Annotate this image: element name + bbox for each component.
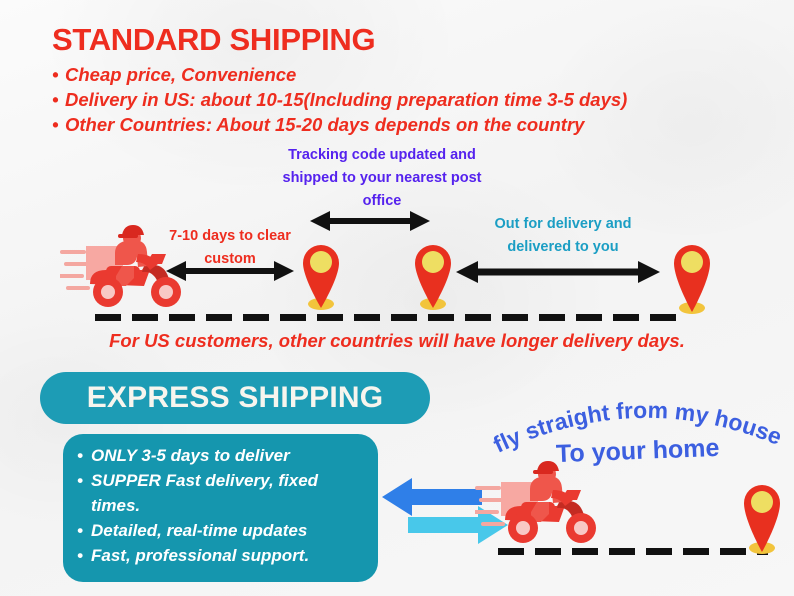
list-item: •Cheap price, Convenience xyxy=(52,62,772,87)
list-item: •Detailed, real-time updates xyxy=(77,518,368,543)
list-item-label: ONLY 3-5 days to deliver xyxy=(91,443,290,468)
list-item: •Other Countries: About 15-20 days depen… xyxy=(52,112,772,137)
list-item: •SUPPER Fast delivery, fixed times. xyxy=(77,468,368,518)
tracking-code-note-line-2: shipped to your nearest post xyxy=(247,167,517,190)
tracking-code-note: Tracking code updated and shipped to you… xyxy=(247,144,517,213)
map-pin-icon xyxy=(740,478,784,556)
out-for-delivery-note-line-2: delivered to you xyxy=(478,236,648,259)
out-for-delivery-note: Out for delivery and delivered to you xyxy=(478,213,648,259)
double-arrow-clear-custom xyxy=(166,258,294,284)
map-pin-icon xyxy=(299,238,343,312)
infographic-canvas: STANDARD SHIPPING •Cheap price, Convenie… xyxy=(0,0,794,596)
double-arrow-tracking-segment xyxy=(310,208,430,234)
list-item: •Fast, professional support. xyxy=(77,543,368,568)
out-for-delivery-note-line-1: Out for delivery and xyxy=(478,213,648,236)
express-shipping-banner: EXPRESS SHIPPING xyxy=(40,372,430,424)
delivery-scooter-icon xyxy=(475,458,615,550)
list-item-label: Other Countries: About 15-20 days depend… xyxy=(65,114,584,135)
standard-shipping-title: STANDARD SHIPPING xyxy=(52,22,375,58)
dashed-road-line-top xyxy=(95,314,683,321)
tracking-code-note-line-1: Tracking code updated and xyxy=(247,144,517,167)
bullet-marker-icon: • xyxy=(52,87,65,112)
double-arrow-out-for-delivery xyxy=(456,258,660,286)
bullet-marker-icon: • xyxy=(77,443,91,468)
dashed-road-line-bottom xyxy=(498,548,768,555)
express-shipping-title: EXPRESS SHIPPING xyxy=(87,381,384,415)
map-pin-icon xyxy=(670,238,714,316)
bullet-marker-icon: • xyxy=(52,62,65,87)
list-item-label: SUPPER Fast delivery, fixed times. xyxy=(91,468,368,518)
bullet-marker-icon: • xyxy=(77,518,91,543)
list-item-label: Fast, professional support. xyxy=(91,543,309,568)
us-customers-note: For US customers, other countries will h… xyxy=(0,330,794,352)
list-item-label: Delivery in US: about 10-15(Including pr… xyxy=(65,89,627,110)
bullet-marker-icon: • xyxy=(77,468,91,493)
list-item: •ONLY 3-5 days to deliver xyxy=(77,443,368,468)
map-pin-icon xyxy=(411,238,455,312)
standard-shipping-bullet-list: •Cheap price, Convenience •Delivery in U… xyxy=(52,62,772,137)
list-item: •Delivery in US: about 10-15(Including p… xyxy=(52,87,772,112)
list-item-label: Detailed, real-time updates xyxy=(91,518,307,543)
bullet-marker-icon: • xyxy=(52,112,65,137)
list-item-label: Cheap price, Convenience xyxy=(65,64,296,85)
express-shipping-bullet-list: •ONLY 3-5 days to deliver •SUPPER Fast d… xyxy=(63,434,378,582)
bullet-marker-icon: • xyxy=(77,543,91,568)
